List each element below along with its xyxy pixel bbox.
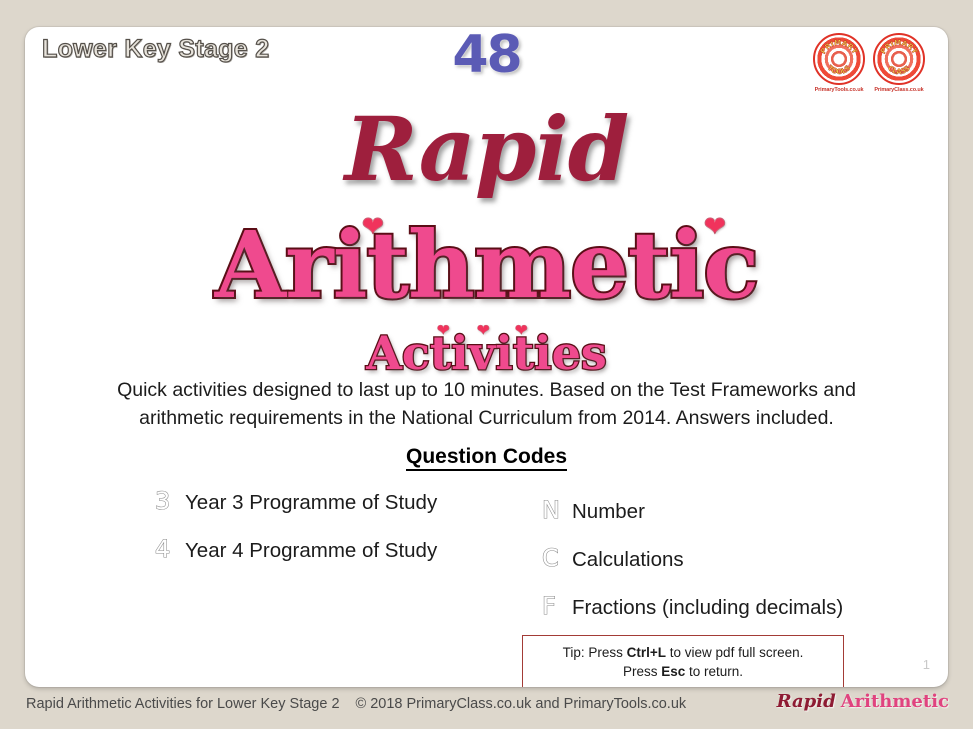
topic-codes-column: N Number C Calculations F Fractions (inc… xyxy=(542,498,843,642)
title-activities: Activities xyxy=(25,330,948,376)
code-label: Fractions (including decimals) xyxy=(572,596,843,620)
code-label: Year 4 Programme of Study xyxy=(185,539,437,563)
tip-key-esc: Esc xyxy=(661,664,685,679)
list-item: C Calculations xyxy=(542,546,843,572)
logo-caption: PrimaryTools.co.uk xyxy=(812,87,866,93)
page-number: 1 xyxy=(923,657,930,672)
question-codes-heading: Question Codes xyxy=(25,445,948,469)
footer-brand-logo: RapidArithmetic xyxy=(777,693,949,711)
svg-text:PRIMARY: PRIMARY xyxy=(878,38,920,56)
tip-line2-post: to return. xyxy=(685,664,743,679)
footer-title: Rapid Arithmetic Activities for Lower Ke… xyxy=(26,696,340,712)
pdf-page-card: Lower Key Stage 2 48 PRIMARY TOOLS Prima… xyxy=(25,27,948,687)
question-codes-area: 3 Year 3 Programme of Study 4 Year 4 Pro… xyxy=(25,482,948,652)
svg-text:PRIMARY: PRIMARY xyxy=(818,38,860,56)
tip-line2-pre: Press xyxy=(623,664,661,679)
svg-text:TOOLS: TOOLS xyxy=(826,63,853,76)
bullseye-target-icon: PRIMARY TOOLS xyxy=(813,33,865,85)
code-glyph-number: N xyxy=(542,498,572,522)
logo-caption: PrimaryClass.co.uk xyxy=(872,87,926,93)
logo-primaryclass[interactable]: PRIMARY CLASS PrimaryClass.co.uk xyxy=(872,33,926,93)
code-glyph-fractions: F xyxy=(542,594,572,618)
svg-text:CLASS: CLASS xyxy=(886,64,911,76)
year-codes-column: 3 Year 3 Programme of Study 4 Year 4 Pro… xyxy=(155,489,437,585)
code-label: Calculations xyxy=(572,548,684,572)
code-glyph-year3: 3 xyxy=(155,489,185,513)
code-glyph-calculations: C xyxy=(542,546,572,570)
title-rapid: Rapid xyxy=(25,105,948,193)
footer-logo-arithmetic: Arithmetic xyxy=(841,691,949,712)
footer-logo-rapid: Rapid xyxy=(777,691,836,712)
footer-text: Rapid Arithmetic Activities for Lower Ke… xyxy=(26,696,686,712)
question-codes-heading-text: Question Codes xyxy=(406,445,567,471)
tip-box: Tip: Press Ctrl+L to view pdf full scree… xyxy=(522,635,844,687)
code-glyph-year4: 4 xyxy=(155,537,185,561)
list-item: 3 Year 3 Programme of Study xyxy=(155,489,437,515)
title-arithmetic: Arithmetic xyxy=(25,219,948,311)
description-text: Quick activities designed to last up to … xyxy=(87,377,886,432)
tip-line-1: Tip: Press Ctrl+L to view pdf full scree… xyxy=(527,643,839,662)
corner-logos: PRIMARY TOOLS PrimaryTools.co.uk PRIMARY xyxy=(812,33,926,93)
code-label: Number xyxy=(572,500,645,524)
bullseye-target-icon: PRIMARY CLASS xyxy=(873,33,925,85)
activity-number-badge: 48 xyxy=(25,29,948,81)
tip-key-ctrl-l: Ctrl+L xyxy=(627,645,666,660)
code-label: Year 3 Programme of Study xyxy=(185,491,437,515)
tip-line-2: Press Esc to return. xyxy=(527,662,839,681)
footer-copyright: © 2018 PrimaryClass.co.uk and PrimaryToo… xyxy=(356,696,687,712)
list-item: N Number xyxy=(542,498,843,524)
footer: Rapid Arithmetic Activities for Lower Ke… xyxy=(0,687,973,729)
list-item: F Fractions (including decimals) xyxy=(542,594,843,620)
logo-primarytools[interactable]: PRIMARY TOOLS PrimaryTools.co.uk xyxy=(812,33,866,93)
tip-line1-pre: Tip: Press xyxy=(563,645,627,660)
tip-line1-post: to view pdf full screen. xyxy=(666,645,803,660)
list-item: 4 Year 4 Programme of Study xyxy=(155,537,437,563)
